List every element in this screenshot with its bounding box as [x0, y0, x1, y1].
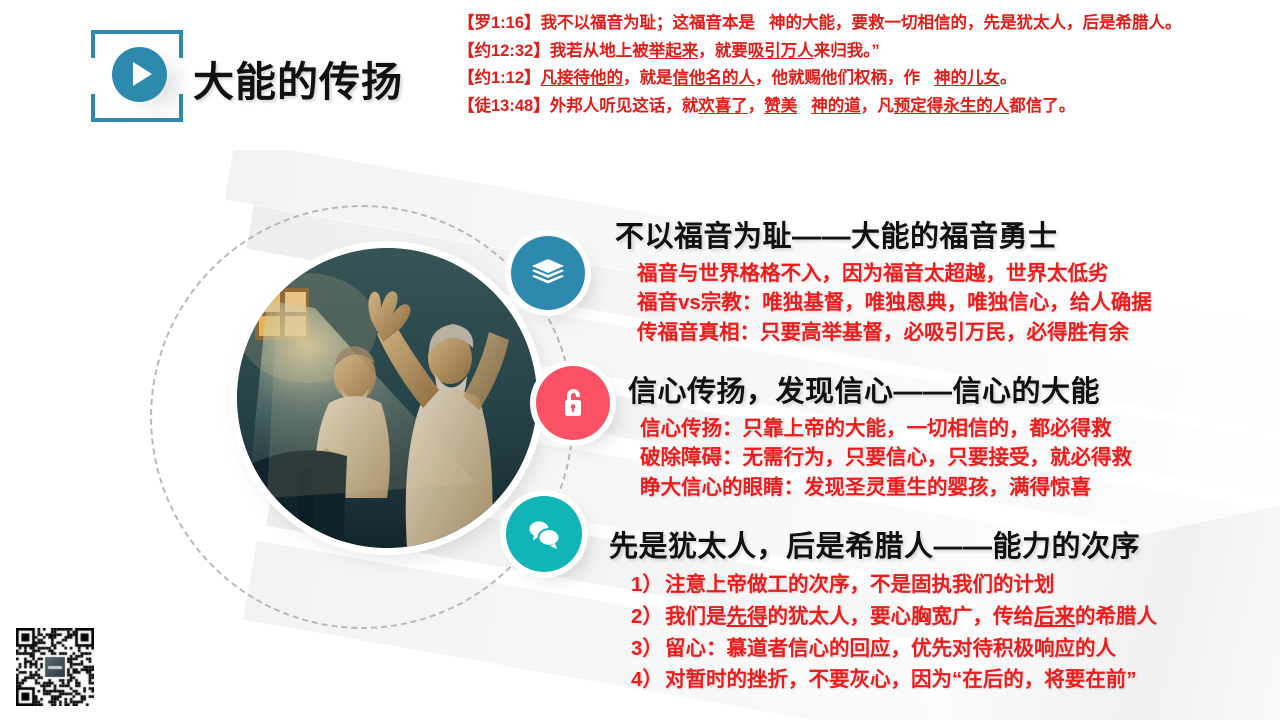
list-text: 对暂时的挫折，不要灰心，因为“在后的，将要在前” — [665, 668, 1137, 691]
illustration-photo — [237, 248, 537, 548]
slide-canvas: 大能的传扬 【罗1:16】我不以福音为耻；这福音本是神的大能，要救一切相信的，先… — [0, 0, 1280, 720]
slide-header: 大能的传扬 — [0, 0, 460, 150]
unlock-icon[interactable] — [536, 366, 610, 440]
layers-icon-glyph — [531, 258, 565, 288]
chat-bubbles-icon-glyph — [526, 518, 562, 550]
qr-code[interactable] — [16, 628, 94, 706]
chat-bubbles-icon[interactable] — [506, 496, 582, 572]
section-2-heading: 信心传扬，发现信心——信心的大能 — [628, 368, 1132, 410]
section-3-item-1: 1）注意上帝做工的次序，不是固执我们的计划 — [631, 569, 1157, 601]
list-text: 我们是先得的犹太人，要心胸宽广，传给后来的希腊人 — [665, 605, 1157, 628]
content-section-3: 先是犹太人，后是希腊人——能力的次序 1）注意上帝做工的次序，不是固执我们的计划… — [609, 523, 1157, 696]
scripture-verse-4: 【徒13:48】外邦人听见这话，就欢喜了，赞美神的道，凡预定得永生的人都信了。 — [458, 93, 1268, 120]
scripture-block: 【罗1:16】我不以福音为耻；这福音本是神的大能，要救一切相信的，先是犹太人，后… — [458, 10, 1268, 121]
list-text: 注意上帝做工的次序，不是固执我们的计划 — [665, 573, 1055, 596]
list-number: 1） — [631, 569, 665, 601]
list-number: 4） — [631, 664, 665, 696]
scripture-verse-2: 【约12:32】我若从地上被举起来，就要吸引万人来归我。” — [458, 38, 1268, 65]
list-text: 留心：慕道者信心的回应，优先对待积极响应的人 — [665, 637, 1116, 660]
section-1-lines: 福音与世界格格不入，因为福音太超越，世界太低劣 福音vs宗教：唯独基督，唯独恩典… — [637, 259, 1152, 347]
play-button-icon — [112, 47, 167, 102]
section-1-line-1: 福音与世界格格不入，因为福音太超越，世界太低劣 — [637, 259, 1152, 288]
section-3-item-2: 2）我们是先得的犹太人，要心胸宽广，传给后来的希腊人 — [631, 601, 1157, 633]
page-title: 大能的传扬 — [193, 48, 403, 108]
section-3-item-4: 4）对暂时的挫折，不要灰心，因为“在后的，将要在前” — [631, 664, 1157, 696]
unlock-icon-glyph — [558, 386, 588, 420]
list-number: 2） — [631, 601, 665, 633]
content-section-2: 信心传扬，发现信心——信心的大能 信心传扬：只靠上帝的大能，一切相信的，都必得救… — [628, 368, 1132, 502]
section-2-line-2: 破除障碍：无需行为，只要信心，只要接受，就必得救 — [640, 443, 1132, 472]
section-3-heading: 先是犹太人，后是希腊人——能力的次序 — [609, 523, 1157, 565]
qr-code-canvas — [16, 628, 94, 706]
section-3-item-3: 3）留心：慕道者信心的回应，优先对待积极响应的人 — [631, 633, 1157, 665]
section-1-heading: 不以福音为耻——大能的福音勇士 — [615, 213, 1152, 255]
section-1-line-2: 福音vs宗教：唯独基督，唯独恩典，唯独信心，给人确据 — [637, 288, 1152, 317]
section-2-lines: 信心传扬：只靠上帝的大能，一切相信的，都必得救 破除障碍：无需行为，只要信心，只… — [640, 414, 1132, 502]
content-section-1: 不以福音为耻——大能的福音勇士 福音与世界格格不入，因为福音太超越，世界太低劣 … — [615, 213, 1152, 347]
layers-icon[interactable] — [511, 236, 585, 310]
section-2-line-1: 信心传扬：只靠上帝的大能，一切相信的，都必得救 — [640, 414, 1132, 443]
section-3-lines: 1）注意上帝做工的次序，不是固执我们的计划 2）我们是先得的犹太人，要心胸宽广，… — [631, 569, 1157, 696]
prison-praise-illustration — [237, 248, 537, 548]
list-number: 3） — [631, 633, 665, 665]
scripture-verse-3: 【约1:12】凡接待他的，就是信他名的人，他就赐他们权柄，作神的儿女。 — [458, 65, 1268, 92]
scripture-verse-1: 【罗1:16】我不以福音为耻；这福音本是神的大能，要救一切相信的，先是犹太人，后… — [458, 10, 1268, 37]
section-2-line-3: 睁大信心的眼睛：发现圣灵重生的婴孩，满得惊喜 — [640, 473, 1132, 502]
section-1-line-3: 传福音真相：只要高举基督，必吸引万民，必得胜有余 — [637, 318, 1152, 347]
